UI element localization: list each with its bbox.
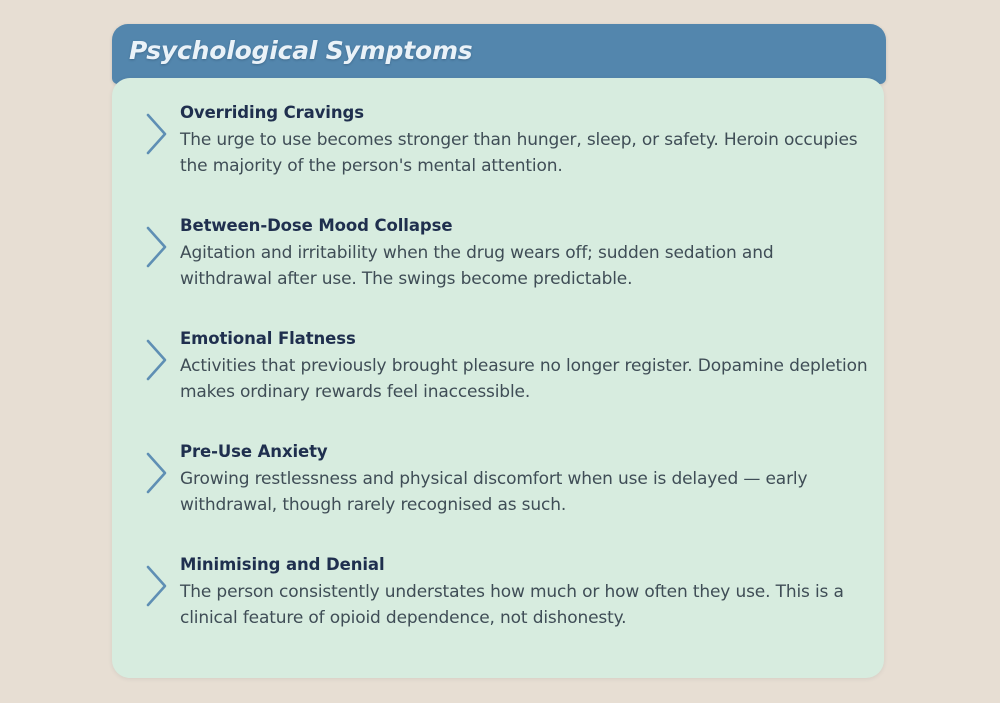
list-item-description: The person consistently understates how … — [180, 579, 870, 631]
chevron-right-icon — [145, 565, 169, 607]
list-item: Emotional Flatness Activities that previ… — [145, 328, 870, 405]
symptom-list: Overriding Cravings The urge to use beco… — [145, 102, 870, 631]
list-item-title: Overriding Cravings — [180, 102, 870, 124]
list-item-description: The urge to use becomes stronger than hu… — [180, 127, 870, 179]
psychological-symptoms-card: Psychological Symptoms Overriding Cravin… — [112, 24, 886, 678]
chevron-right-icon — [145, 113, 169, 155]
list-item: Between-Dose Mood Collapse Agitation and… — [145, 215, 870, 292]
list-item-description: Agitation and irritability when the drug… — [180, 240, 870, 292]
chevron-right-icon — [145, 226, 169, 268]
list-item-title: Pre-Use Anxiety — [180, 441, 870, 463]
list-item-description: Activities that previously brought pleas… — [180, 353, 870, 405]
card-title: Psychological Symptoms — [129, 36, 472, 65]
list-item: Minimising and Denial The person consist… — [145, 554, 870, 631]
list-item-title: Between-Dose Mood Collapse — [180, 215, 870, 237]
card-body-panel: Overriding Cravings The urge to use beco… — [112, 78, 884, 678]
card-header-bar: Psychological Symptoms — [112, 24, 886, 84]
list-item-title: Minimising and Denial — [180, 554, 870, 576]
list-item: Overriding Cravings The urge to use beco… — [145, 102, 870, 179]
chevron-right-icon — [145, 339, 169, 381]
list-item-title: Emotional Flatness — [180, 328, 870, 350]
list-item: Pre-Use Anxiety Growing restlessness and… — [145, 441, 870, 518]
chevron-right-icon — [145, 452, 169, 494]
list-item-description: Growing restlessness and physical discom… — [180, 466, 870, 518]
